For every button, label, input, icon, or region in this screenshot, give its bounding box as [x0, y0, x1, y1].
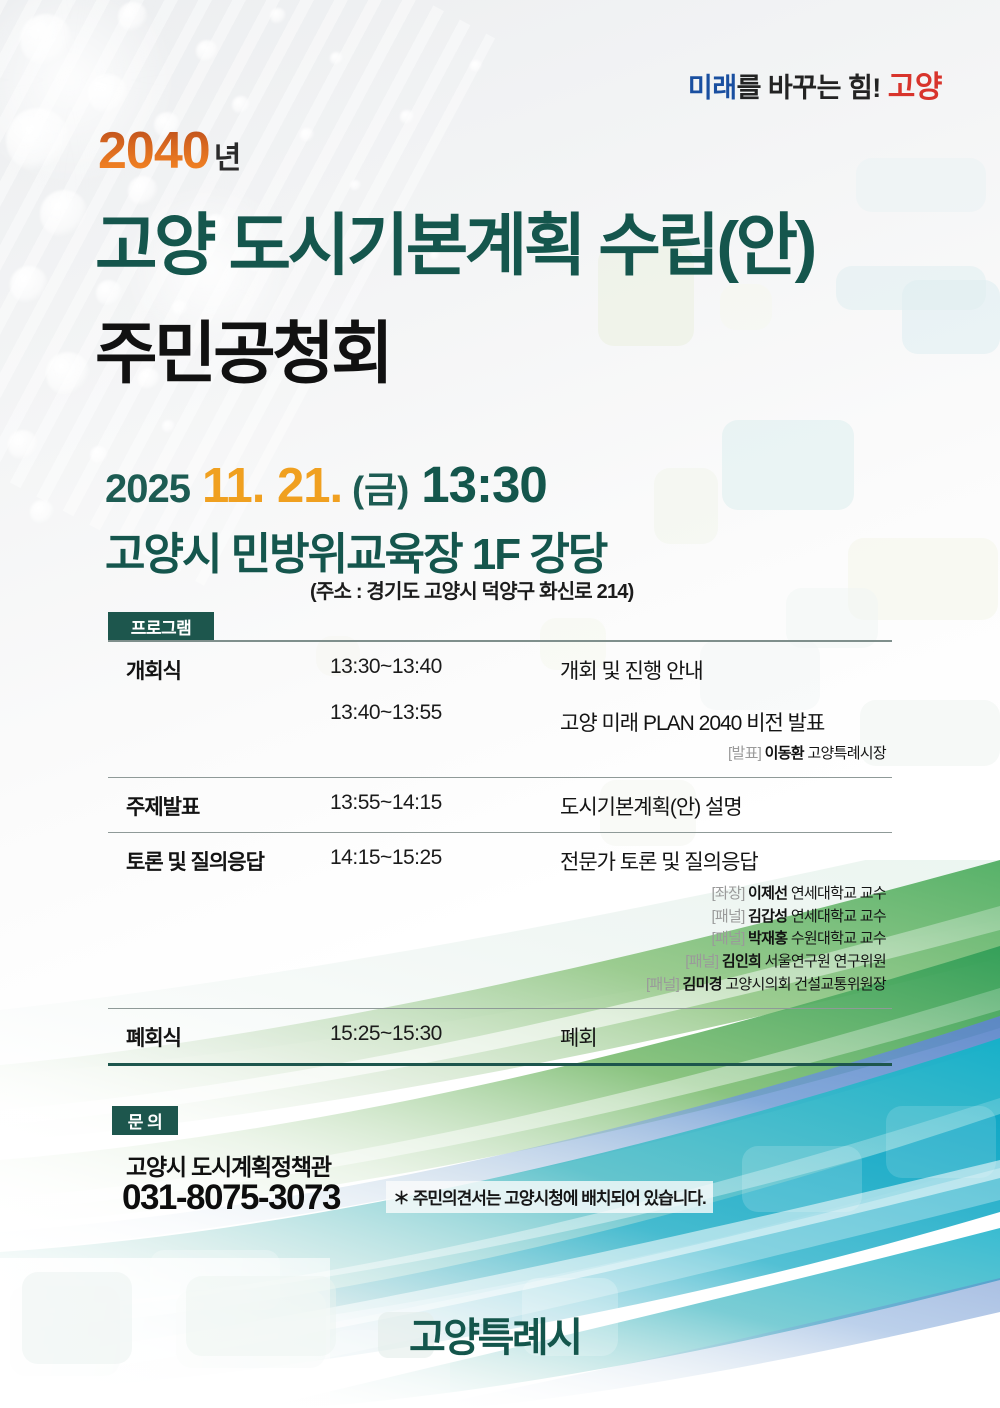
row-category: 폐회식 — [108, 1022, 330, 1052]
contact-phone: 031-8075-3073 — [122, 1178, 340, 1218]
city-logo: 고양특례시 — [409, 1305, 581, 1363]
person-affiliation: 수원대학교 교수 — [791, 930, 886, 947]
row-time: 13:40~13:55 — [330, 701, 560, 725]
person-name: 박재홍 — [748, 930, 787, 947]
event-datetime: 202511. 21.(금)13:30 — [105, 455, 547, 514]
program-table: 개회식 13:30~13:40 13:40~13:55 개회 및 진행 안내 고… — [108, 640, 892, 1066]
row-category: 주제발표 — [108, 791, 330, 821]
event-venue: 고양시 민방위교육장 1F 강당 — [105, 518, 606, 582]
person-name: 이동환 — [765, 745, 804, 762]
row-description: 개회 및 진행 안내 — [560, 655, 892, 685]
slogan-part-1: 미래 — [688, 73, 737, 103]
row-times: 13:30~13:40 13:40~13:55 — [330, 655, 560, 766]
list-item: [패널] 김인희 서울연구원 연구위원 — [560, 951, 886, 974]
person-role: [발표] — [728, 745, 761, 762]
row-description: 전문가 토론 및 질의응답 — [560, 846, 892, 876]
row-descriptions: 개회 및 진행 안내 고양 미래 PLAN 2040 비전 발표 [발표] 이동… — [560, 655, 892, 766]
row-descriptions: 폐회 — [560, 1022, 892, 1052]
person-affiliation: 고양특례시장 — [807, 745, 886, 762]
program-section-tag: 프로그램 — [108, 612, 214, 641]
row-people-list: [발표] 이동환 고양특례시장 — [560, 743, 892, 766]
person-affiliation: 고양시의회 건설교통위원장 — [725, 976, 886, 993]
person-affiliation: 연세대학교 교수 — [791, 908, 886, 925]
row-people-list: [좌장] 이제선 연세대학교 교수 [패널] 김갑성 연세대학교 교수 [패널]… — [560, 883, 892, 997]
event-day-of-week: (금) — [352, 469, 409, 510]
contact-section-tag: 문 의 — [112, 1106, 178, 1135]
notice-panel: ＊ 주민의견서는 고양시청에 배치되어 있습니다. — [386, 1181, 713, 1213]
city-slogan: 미래를 바꾸는 힘! 고양 — [688, 62, 942, 106]
page-title-line-1: 고양 도시기본계획 수립(안) — [95, 190, 814, 289]
event-address: (주소 : 경기도 고양시 덕양구 화신로 214) — [310, 575, 634, 604]
list-item: [패널] 김미경 고양시의회 건설교통위원장 — [560, 974, 886, 997]
year-number: 2040 — [98, 122, 210, 180]
row-time: 13:55~14:15 — [330, 791, 560, 815]
list-item: [패널] 김갑성 연세대학교 교수 — [560, 906, 886, 929]
row-category: 토론 및 질의응답 — [108, 846, 330, 997]
event-time: 13:30 — [421, 456, 546, 513]
program-table-bottom-rule — [108, 1063, 892, 1066]
slogan-part-3: 고양 — [888, 71, 942, 104]
program-section-tag-label: 프로그램 — [131, 614, 192, 639]
person-name: 김미경 — [683, 976, 722, 993]
person-name: 김갑성 — [748, 908, 787, 925]
poster-canvas: 미래를 바꾸는 힘! 고양 2040년 고양 도시기본계획 수립(안) 주민공청… — [0, 0, 1000, 1408]
year-suffix: 년 — [214, 142, 242, 175]
page-title-line-2: 주민공청회 — [95, 298, 390, 397]
person-affiliation: 서울연구원 연구위원 — [765, 953, 886, 970]
row-description: 고양 미래 PLAN 2040 비전 발표 — [560, 707, 892, 737]
person-name: 김인희 — [722, 953, 761, 970]
person-role: [좌장] — [711, 885, 744, 902]
row-description: 폐회 — [560, 1022, 892, 1052]
row-times: 13:55~14:15 — [330, 791, 560, 821]
list-item: [발표] 이동환 고양특례시장 — [560, 743, 886, 766]
row-descriptions: 전문가 토론 및 질의응답 [좌장] 이제선 연세대학교 교수 [패널] 김갑성… — [560, 846, 892, 997]
table-row: 개회식 13:30~13:40 13:40~13:55 개회 및 진행 안내 고… — [108, 642, 892, 777]
event-year: 2025 — [105, 467, 190, 511]
table-row: 토론 및 질의응답 14:15~15:25 전문가 토론 및 질의응답 [좌장]… — [108, 832, 892, 1008]
slogan-part-2: 를 바꾸는 힘! — [737, 73, 881, 103]
row-time: 13:30~13:40 — [330, 655, 560, 679]
row-description: 도시기본계획(안) 설명 — [560, 791, 892, 821]
year-heading: 2040년 — [98, 121, 241, 181]
list-item: [좌장] 이제선 연세대학교 교수 — [560, 883, 886, 906]
notice-text: ＊ 주민의견서는 고양시청에 배치되어 있습니다. — [393, 1184, 706, 1209]
row-times: 15:25~15:30 — [330, 1022, 560, 1052]
list-item: [패널] 박재홍 수원대학교 교수 — [560, 928, 886, 951]
person-affiliation: 연세대학교 교수 — [791, 885, 886, 902]
event-month-day: 11. 21. — [202, 459, 342, 513]
contact-department: 고양시 도시계획정책관 — [126, 1148, 331, 1182]
contact-section-tag-label: 문 의 — [128, 1108, 163, 1133]
person-role: [패널] — [711, 930, 744, 947]
person-role: [패널] — [685, 953, 718, 970]
table-row: 폐회식 15:25~15:30 폐회 — [108, 1008, 892, 1063]
row-category: 개회식 — [108, 655, 330, 766]
person-role: [패널] — [646, 976, 679, 993]
row-descriptions: 도시기본계획(안) 설명 — [560, 791, 892, 821]
row-time: 14:15~15:25 — [330, 846, 560, 870]
row-time: 15:25~15:30 — [330, 1022, 560, 1046]
person-name: 이제선 — [748, 885, 787, 902]
person-role: [패널] — [711, 908, 744, 925]
table-row: 주제발표 13:55~14:15 도시기본계획(안) 설명 — [108, 777, 892, 832]
row-times: 14:15~15:25 — [330, 846, 560, 997]
